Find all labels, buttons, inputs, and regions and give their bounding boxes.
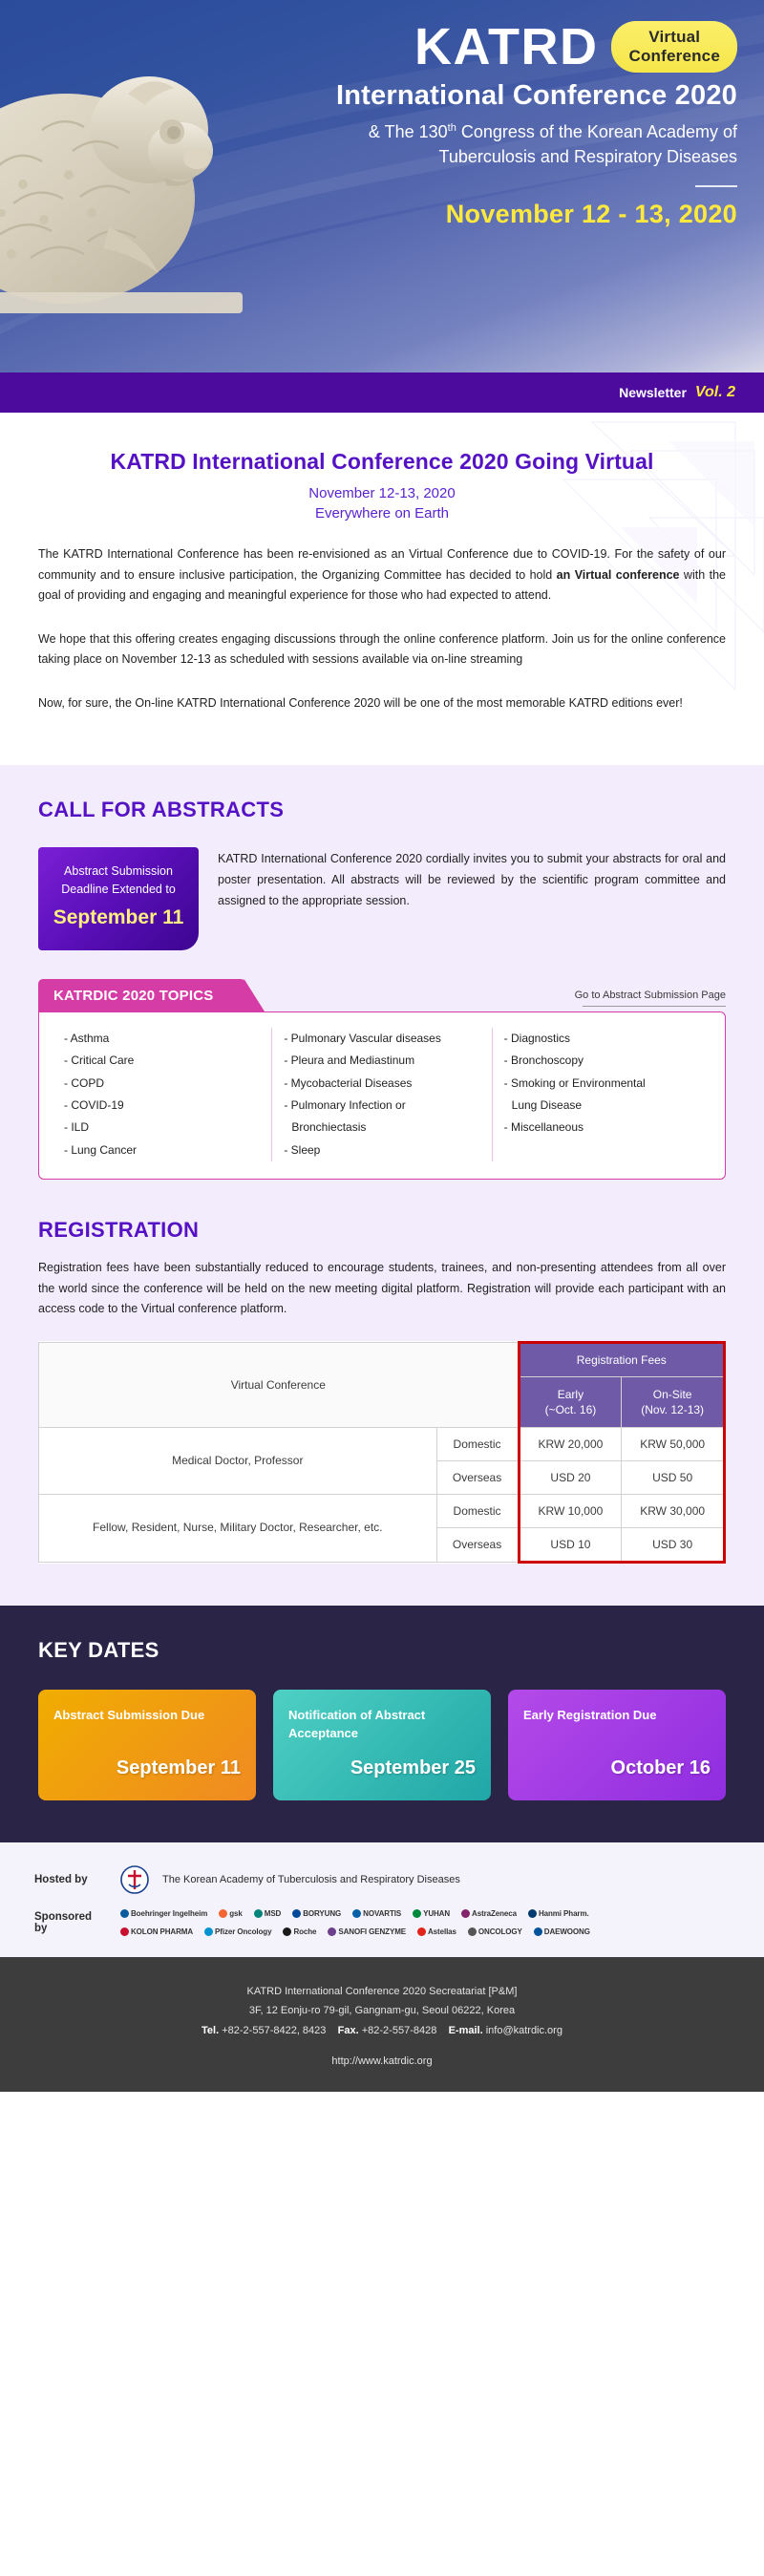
fax-label: Fax. — [338, 2025, 359, 2036]
topic-item: - Pulmonary Vascular diseases — [284, 1028, 479, 1050]
sponsor-name: Hanmi Pharm. — [539, 1909, 589, 1918]
onsite-fee-value: KRW 50,000 — [622, 1427, 725, 1460]
onsite-dates: (Nov. 12-13) — [641, 1403, 704, 1416]
sponsor-name: Roche — [293, 1927, 316, 1936]
congress-text-b: Congress of the Korean Academy of — [456, 122, 737, 141]
sponsor-logo: KOLON PHARMA — [120, 1927, 193, 1936]
sponsor-logo: NOVARTIS — [352, 1909, 401, 1918]
sponsor-name: gsk — [229, 1909, 243, 1918]
topic-item: - Pleura and Mediastinum — [284, 1050, 479, 1072]
congress-text-c: Tuberculosis and Respiratory Diseases — [439, 147, 737, 166]
footer-secretariat: KATRD International Conference 2020 Secr… — [38, 1982, 726, 2001]
hero-text-block: KATRD Virtual Conference International C… — [222, 21, 737, 229]
sponsor-mark-icon — [120, 1909, 129, 1918]
topics-column-3: - Diagnostics - Bronchoscopy - Smoking o… — [492, 1028, 711, 1161]
conference-title: International Conference 2020 — [222, 80, 737, 112]
fees-header: Registration Fees — [519, 1342, 724, 1376]
residency-type: Overseas — [436, 1527, 519, 1562]
category-label: Medical Doctor, Professor — [39, 1427, 437, 1494]
host-name: The Korean Academy of Tuberculosis and R… — [162, 1874, 460, 1885]
deadline-label: Abstract Submission Deadline Extended to — [50, 862, 187, 900]
intro-paragraph-2: We hope that this offering creates engag… — [38, 629, 726, 671]
email-value[interactable]: info@katrdic.org — [486, 2025, 562, 2036]
deadline-badge: Abstract Submission Deadline Extended to… — [38, 847, 199, 950]
early-deadline: (~Oct. 16) — [545, 1403, 597, 1416]
sponsor-logo: Boehringer Ingelheim — [120, 1909, 207, 1918]
registration-title: REGISTRATION — [38, 1218, 726, 1243]
sponsor-name: MSD — [265, 1909, 281, 1918]
topic-item: - Critical Care — [64, 1050, 260, 1072]
table-row: Fellow, Resident, Nurse, Military Doctor… — [39, 1494, 725, 1527]
deadline-date: September 11 — [50, 906, 187, 929]
email-label: E-mail. — [449, 2025, 483, 2036]
intro-title: KATRD International Conference 2020 Goin… — [38, 449, 726, 475]
topic-item: - Lung Cancer — [64, 1139, 260, 1161]
sponsor-mark-icon — [352, 1909, 361, 1918]
sponsor-name: SANOFI GENZYME — [338, 1927, 406, 1936]
sponsor-name: Pfizer Oncology — [215, 1927, 271, 1936]
abstract-submission-link[interactable]: Go to Abstract Submission Page — [575, 990, 726, 1012]
sponsor-mark-icon — [417, 1927, 426, 1936]
sponsor-logos-row-2: KOLON PHARMA Pfizer Oncology Roche SANOF… — [120, 1927, 730, 1936]
topics-box: - Asthma - Critical Care - COPD - COVID-… — [38, 1011, 726, 1180]
sponsored-by-label: Sponsored by — [34, 1911, 107, 1934]
sponsor-mark-icon — [461, 1909, 470, 1918]
onsite-fee-value: KRW 30,000 — [622, 1494, 725, 1527]
topic-item: - Miscellaneous — [504, 1117, 700, 1139]
table-row: Medical Doctor, Professor Domestic KRW 2… — [39, 1427, 725, 1460]
early-fee-value: KRW 10,000 — [519, 1494, 622, 1527]
sponsor-name: NOVARTIS — [363, 1909, 401, 1918]
footer-website-url[interactable]: http://www.katrdic.org — [38, 2055, 726, 2067]
early-fee-value: KRW 20,000 — [519, 1427, 622, 1460]
early-fee-header: Early (~Oct. 16) — [519, 1376, 622, 1427]
table-corner-label: Virtual Conference — [39, 1342, 520, 1427]
hero-banner: KATRD Virtual Conference International C… — [0, 0, 764, 373]
sponsor-mark-icon — [120, 1927, 129, 1936]
topics-column-2: - Pulmonary Vascular diseases - Pleura a… — [271, 1028, 491, 1161]
key-date-value: October 16 — [523, 1757, 711, 1779]
abstract-submission-link-underline — [583, 1006, 726, 1007]
hero-divider — [695, 185, 737, 187]
onsite-label: On-Site — [653, 1388, 692, 1401]
early-label: Early — [558, 1388, 584, 1401]
sponsor-logo: BORYUNG — [292, 1909, 341, 1918]
key-date-value: September 11 — [53, 1757, 241, 1779]
sponsor-mark-icon — [283, 1927, 291, 1936]
topic-item: - COVID-19 — [64, 1095, 260, 1117]
sponsor-logo: Astellas — [417, 1927, 456, 1936]
intro-paragraph-3: Now, for sure, the On-line KATRD Interna… — [38, 693, 726, 714]
sponsor-name: YUHAN — [423, 1909, 450, 1918]
sponsor-mark-icon — [413, 1909, 421, 1918]
katrd-host-logo-icon — [120, 1865, 149, 1894]
sponsor-logo: YUHAN — [413, 1909, 450, 1918]
topic-item: - COPD — [64, 1073, 260, 1095]
topic-item: - Asthma — [64, 1028, 260, 1050]
sponsor-mark-icon — [219, 1909, 227, 1918]
key-date-card-abstract: Abstract Submission Due September 11 — [38, 1690, 256, 1800]
virtual-conference-badge: Virtual Conference — [611, 21, 737, 73]
residency-type: Domestic — [436, 1427, 519, 1460]
onsite-fee-value: USD 50 — [622, 1460, 725, 1494]
key-date-card-notification: Notification of Abstract Acceptance Sept… — [273, 1690, 491, 1800]
congress-text-a: & The 130 — [369, 122, 448, 141]
topic-item: - Diagnostics — [504, 1028, 700, 1050]
sponsors-section: Hosted by The Korean Academy of Tubercul… — [0, 1842, 764, 1957]
footer: KATRD International Conference 2020 Secr… — [0, 1957, 764, 2092]
hosted-by-label: Hosted by — [34, 1874, 107, 1885]
topic-item: - Bronchoscopy — [504, 1050, 700, 1072]
sponsor-logo: MSD — [254, 1909, 281, 1918]
key-date-value: September 25 — [288, 1757, 476, 1779]
badge-line-2: Conference — [628, 47, 720, 66]
brand-title: KATRD — [414, 21, 598, 73]
key-date-label: Abstract Submission Due — [53, 1707, 241, 1725]
fax-value: +82-2-557-8428 — [362, 2025, 437, 2036]
sponsor-logos-row-1: Boehringer Ingelheim gsk MSD BORYUNG NOV… — [120, 1909, 730, 1918]
residency-type: Overseas — [436, 1460, 519, 1494]
sponsor-name: DAEWOONG — [544, 1927, 590, 1936]
registration-section: REGISTRATION Registration fees have been… — [0, 1208, 764, 1606]
intro-date: November 12-13, 2020 — [38, 485, 726, 501]
sponsor-logo: Pfizer Oncology — [204, 1927, 271, 1936]
table-header-row: Virtual Conference Registration Fees — [39, 1342, 725, 1376]
sponsor-mark-icon — [204, 1927, 213, 1936]
hosted-by-row: Hosted by The Korean Academy of Tubercul… — [34, 1865, 730, 1894]
sponsor-mark-icon — [528, 1909, 537, 1918]
sponsor-name: KOLON PHARMA — [131, 1927, 193, 1936]
ordinal-suffix: th — [448, 122, 456, 134]
hero-date: November 12 - 13, 2020 — [222, 200, 737, 229]
newsletter-bar: Newsletter Vol. 2 — [0, 373, 764, 413]
key-date-label: Notification of Abstract Acceptance — [288, 1707, 476, 1743]
footer-contact: Tel. +82-2-557-8422, 8423 Fax. +82-2-557… — [38, 2021, 726, 2040]
call-for-abstracts-body: KATRD International Conference 2020 cord… — [218, 847, 726, 912]
abstract-submission-link-label: Go to Abstract Submission Page — [575, 990, 726, 1001]
topic-item: - Smoking or Environmental — [504, 1073, 700, 1095]
call-for-abstracts-title: CALL FOR ABSTRACTS — [38, 798, 726, 822]
sponsor-mark-icon — [292, 1909, 301, 1918]
newsletter-volume: Vol. 2 — [695, 384, 735, 401]
topic-item: - Pulmonary Infection or — [284, 1095, 479, 1117]
category-label: Fellow, Resident, Nurse, Military Doctor… — [39, 1494, 437, 1562]
sponsor-mark-icon — [254, 1909, 263, 1918]
sponsor-name: ONCOLOGY — [478, 1927, 522, 1936]
topic-item-continuation: Bronchiectasis — [284, 1117, 479, 1139]
topics-panel: KATRDIC 2020 TOPICS Go to Abstract Submi… — [38, 979, 726, 1180]
tel-label: Tel. — [202, 2025, 219, 2036]
sponsor-mark-icon — [534, 1927, 542, 1936]
call-for-abstracts-section: CALL FOR ABSTRACTS Abstract Submission D… — [0, 765, 764, 1208]
topic-item-continuation: Lung Disease — [504, 1095, 700, 1117]
key-dates-section: KEY DATES Abstract Submission Due Septem… — [0, 1606, 764, 1842]
topics-tab: KATRDIC 2020 TOPICS — [38, 979, 245, 1012]
registration-body: Registration fees have been substantiall… — [38, 1258, 726, 1320]
sponsor-name: BORYUNG — [303, 1909, 341, 1918]
sponsor-logo: gsk — [219, 1909, 243, 1918]
key-date-card-registration: Early Registration Due October 16 — [508, 1690, 726, 1800]
topics-column-1: - Asthma - Critical Care - COPD - COVID-… — [53, 1028, 271, 1161]
early-fee-value: USD 20 — [519, 1460, 622, 1494]
registration-fee-table: Virtual Conference Registration Fees Ear… — [38, 1341, 726, 1564]
onsite-fee-value: USD 30 — [622, 1527, 725, 1562]
sponsor-logo: ONCOLOGY — [468, 1927, 522, 1936]
footer-address: 3F, 12 Eonju-ro 79-gil, Gangnam-gu, Seou… — [38, 2001, 726, 2020]
intro-location: Everywhere on Earth — [38, 505, 726, 522]
intro-paragraph-1: The KATRD International Conference has b… — [38, 544, 726, 607]
newsletter-page: KATRD Virtual Conference International C… — [0, 0, 764, 2092]
key-date-label: Early Registration Due — [523, 1707, 711, 1725]
sponsor-mark-icon — [328, 1927, 336, 1936]
sponsor-logo: Hanmi Pharm. — [528, 1909, 589, 1918]
sponsor-logo: AstraZeneca — [461, 1909, 517, 1918]
topic-item: - ILD — [64, 1117, 260, 1139]
sponsor-name: Boehringer Ingelheim — [131, 1909, 207, 1918]
sponsor-name: AstraZeneca — [472, 1909, 517, 1918]
sponsored-by-row: Sponsored by Boehringer Ingelheim gsk MS… — [34, 1909, 730, 1936]
sponsor-mark-icon — [468, 1927, 477, 1936]
intro-section: KATRD International Conference 2020 Goin… — [0, 413, 764, 765]
newsletter-label: Newsletter — [619, 385, 687, 400]
congress-subtitle: & The 130th Congress of the Korean Acade… — [222, 120, 737, 169]
sponsor-logo: SANOFI GENZYME — [328, 1927, 406, 1936]
topic-item: - Sleep — [284, 1139, 479, 1161]
tel-value: +82-2-557-8422, 8423 — [222, 2025, 326, 2036]
intro-p1-bold: an Virtual conference — [557, 568, 680, 582]
early-fee-value: USD 10 — [519, 1527, 622, 1562]
badge-line-1: Virtual — [628, 28, 720, 47]
sponsor-logo: Roche — [283, 1927, 316, 1936]
sponsor-name: Astellas — [428, 1927, 456, 1936]
residency-type: Domestic — [436, 1494, 519, 1527]
topic-item: - Mycobacterial Diseases — [284, 1073, 479, 1095]
key-dates-title: KEY DATES — [38, 1638, 726, 1663]
sponsor-logo: DAEWOONG — [534, 1927, 590, 1936]
onsite-fee-header: On-Site (Nov. 12-13) — [622, 1376, 725, 1427]
